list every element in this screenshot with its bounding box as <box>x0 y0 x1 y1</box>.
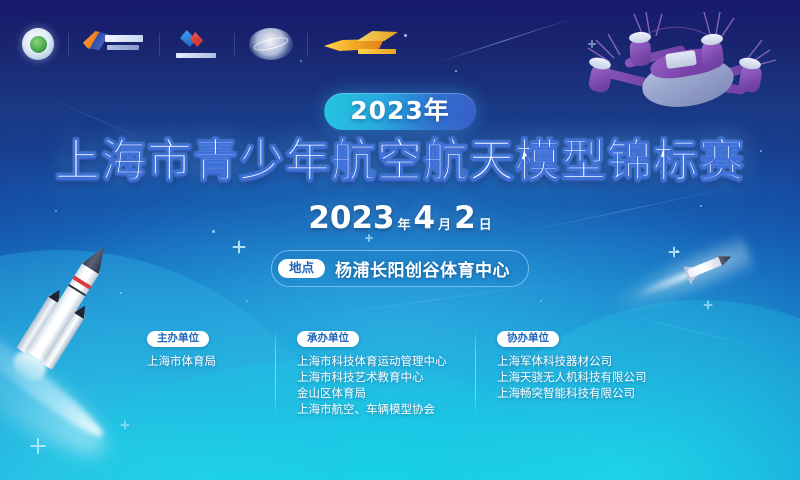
unit-column-coorganizer: 协办单位 上海军体科技器材公司 上海天骁无人机科技有限公司 上海畅突智能科技有限… <box>475 328 675 420</box>
list-item: 金山区体育局 <box>297 386 453 402</box>
aero-wing-logo <box>83 29 145 59</box>
date-month: 4 <box>414 203 436 234</box>
star-dot <box>676 250 679 253</box>
date-day-unit: 日 <box>479 218 492 234</box>
page-title: 上海市青少年航空航天模型锦标赛 <box>0 137 800 186</box>
list-item: 上海畅突智能科技有限公司 <box>497 386 653 402</box>
streak-line <box>522 188 728 233</box>
logo-divider <box>68 33 69 55</box>
star-dot <box>700 205 702 207</box>
quadcopter-drone-icon <box>580 8 790 123</box>
event-date: 2023 年 4 月 2 日 <box>308 203 491 234</box>
list-item: 上海市科技体育运动管理中心 <box>297 354 453 370</box>
date-day: 2 <box>454 203 476 234</box>
year-badge-label: 2023年 <box>350 98 450 123</box>
federation-emblem-logo <box>22 27 54 61</box>
star-dot <box>540 300 542 302</box>
date-year: 2023 <box>308 203 394 234</box>
streak-line <box>434 17 577 64</box>
event-poster: 2023年 上海市青少年航空航天模型锦标赛 2023 年 4 月 2 日 地点 … <box>0 0 800 480</box>
logo-divider <box>159 33 160 55</box>
sports-triangle-logo <box>174 29 220 59</box>
unit-label: 承办单位 <box>297 331 359 348</box>
sparkle-icon <box>703 300 712 309</box>
list-item: 上海天骁无人机科技有限公司 <box>497 370 653 386</box>
star-dot <box>212 230 215 233</box>
venue-tag: 地点 <box>278 259 325 279</box>
list-item: 上海市航空、车辆模型协会 <box>297 402 453 418</box>
year-badge: 2023年 <box>324 93 476 130</box>
logo-divider <box>234 33 235 55</box>
organizer-units: 主办单位 上海市体育局 承办单位 上海市科技体育运动管理中心 上海市科技艺术教育… <box>0 328 800 420</box>
date-year-unit: 年 <box>398 218 411 234</box>
orbit-sphere-logo <box>249 28 293 60</box>
star-dot <box>246 300 248 302</box>
sparkle-icon <box>232 240 245 253</box>
jet-speed-logo <box>322 29 402 59</box>
unit-label: 主办单位 <box>147 331 209 348</box>
unit-list: 上海市体育局 <box>147 354 253 370</box>
unit-label: 协办单位 <box>497 331 559 348</box>
list-item: 上海市科技艺术教育中心 <box>297 370 453 386</box>
unit-column-organizer: 承办单位 上海市科技体育运动管理中心 上海市科技艺术教育中心 金山区体育局 上海… <box>275 328 475 420</box>
sparkle-icon <box>120 420 129 429</box>
list-item: 上海市体育局 <box>147 354 253 370</box>
venue-bar: 地点 杨浦长阳创谷体育中心 <box>271 250 529 287</box>
flying-missile-icon <box>660 246 735 296</box>
star-dot <box>120 292 122 294</box>
unit-list: 上海军体科技器材公司 上海天骁无人机科技有限公司 上海畅突智能科技有限公司 <box>497 354 653 402</box>
sponsor-logo-strip <box>22 27 402 61</box>
list-item: 上海军体科技器材公司 <box>497 354 653 370</box>
star-dot <box>55 210 57 212</box>
streak-line <box>301 282 559 319</box>
sparkle-icon <box>30 438 46 454</box>
page-title-text: 上海市青少年航空航天模型锦标赛 <box>55 137 745 186</box>
logo-divider <box>307 33 308 55</box>
unit-list: 上海市科技体育运动管理中心 上海市科技艺术教育中心 金山区体育局 上海市航空、车… <box>297 354 453 418</box>
date-month-unit: 月 <box>438 218 451 234</box>
star-dot <box>455 70 457 72</box>
venue-name: 杨浦长阳创谷体育中心 <box>335 256 510 281</box>
star-dot <box>404 34 407 37</box>
unit-column-host: 主办单位 上海市体育局 <box>125 328 275 420</box>
